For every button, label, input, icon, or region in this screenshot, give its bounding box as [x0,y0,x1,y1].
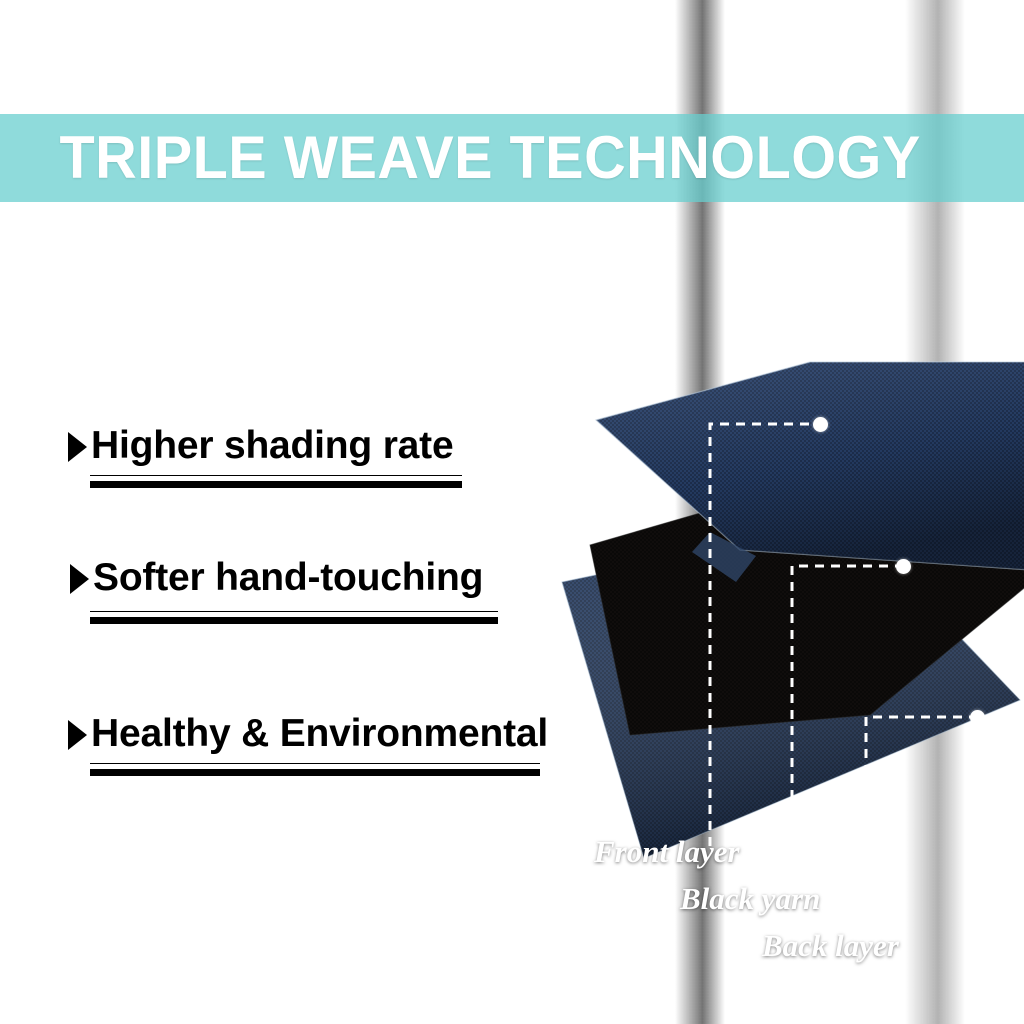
callout-dot-black-yarn [896,559,911,574]
leader-line-back-layer [856,708,988,958]
feature-label: Higher shading rate [91,424,453,468]
headline-banner: TRIPLE WEAVE TECHNOLOGY [0,114,1024,202]
feature-underline-3 [90,762,540,777]
feature-label: Healthy & Environmental [91,712,548,756]
triangle-right-icon [68,432,87,462]
triangle-right-icon [68,720,87,750]
callout-dot-front-layer [813,417,828,432]
infographic-canvas: Front layer Black yarn Back layer TRIPLE… [0,0,1024,1024]
feature-label: Softer hand-touching [93,556,483,600]
callout-dot-back-layer [970,710,985,725]
underline-thick-rule [90,480,462,489]
feature-underline-1 [90,474,462,489]
underline-thick-rule [90,616,498,625]
label-back-layer: Back layer [762,928,899,964]
underline-thin-rule [90,762,540,765]
page-title: TRIPLE WEAVE TECHNOLOGY [0,128,921,188]
underline-thick-rule [90,768,540,777]
feature-item-2: Softer hand-touching [0,556,483,600]
triangle-right-icon [70,564,89,594]
feature-item-3: Healthy & Environmental [0,712,548,756]
feature-underline-2 [90,610,498,625]
feature-item-1: Higher shading rate [0,424,453,468]
underline-thin-rule [90,610,498,613]
label-black-yarn: Black yarn [680,881,820,917]
underline-thin-rule [90,474,462,477]
label-front-layer: Front layer [594,834,740,870]
